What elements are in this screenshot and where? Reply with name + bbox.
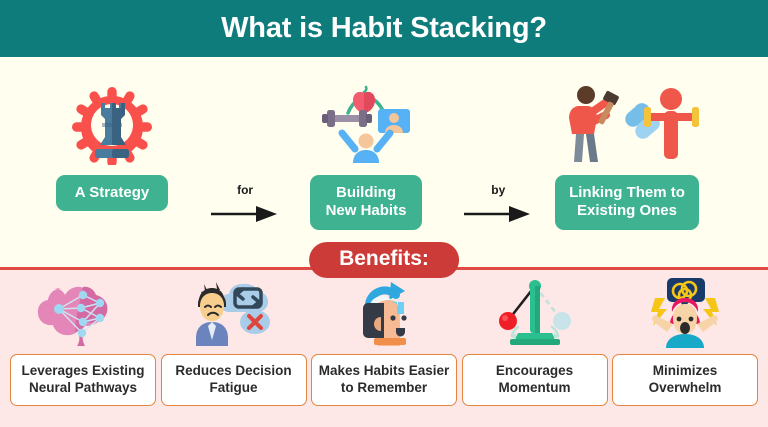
list-item: Makes Habits Easier to Remember	[311, 276, 457, 427]
connector-label: for	[237, 183, 253, 197]
pendulum-newtons-cradle-icon	[492, 276, 578, 348]
right-arrow-icon	[211, 205, 279, 228]
flow-step-label: A Strategy	[56, 175, 168, 211]
header-bar: What is Habit Stacking?	[0, 0, 768, 57]
flow-step-label: Building New Habits	[310, 175, 422, 230]
flow-step-strategy: A Strategy	[56, 79, 168, 211]
right-arrow-icon	[464, 205, 532, 228]
benefit-label: Minimizes Overwhelm	[612, 354, 758, 406]
list-item: Encourages Momentum	[462, 276, 608, 427]
infographic-root: What is Habit Stacking? EDUCBA	[0, 0, 768, 427]
list-item: Minimizes Overwhelm	[612, 276, 758, 427]
chess-rook-in-gear-icon	[64, 79, 160, 165]
benefits-list: Leverages Existing Neural Pathways	[0, 276, 768, 427]
flow-diagram: A Strategy	[0, 79, 768, 249]
tired-person-decision-loop-icon	[186, 276, 282, 348]
flow-connector-by: by	[464, 183, 536, 229]
benefit-label: Reduces Decision Fatigue	[161, 354, 307, 406]
benefit-label: Encourages Momentum	[462, 354, 608, 406]
person-with-apple-dumbbell-profile-icon	[310, 79, 422, 165]
benefit-label: Makes Habits Easier to Remember	[311, 354, 457, 406]
flow-step-building-habits: Building New Habits	[310, 79, 422, 230]
list-item: Leverages Existing Neural Pathways	[10, 276, 156, 427]
connector-label: by	[491, 183, 505, 197]
person-hammer-chain-link-barbell-icon	[552, 79, 702, 165]
benefit-label: Leverages Existing Neural Pathways	[10, 354, 156, 406]
page-title: What is Habit Stacking?	[221, 12, 547, 45]
head-memory-refresh-check-icon	[341, 276, 427, 348]
benefits-badge: Benefits:	[309, 242, 459, 278]
flow-step-label: Linking Them to Existing Ones	[555, 175, 699, 230]
list-item: Reduces Decision Fatigue	[161, 276, 307, 427]
brain-neural-network-icon	[37, 276, 129, 348]
flow-section: A Strategy	[0, 57, 768, 249]
stressed-person-overwhelm-icon	[639, 276, 731, 348]
flow-connector-for: for	[211, 183, 283, 229]
benefits-section: Leverages Existing Neural Pathways	[0, 270, 768, 427]
flow-step-linking-existing: Linking Them to Existing Ones	[552, 79, 702, 230]
